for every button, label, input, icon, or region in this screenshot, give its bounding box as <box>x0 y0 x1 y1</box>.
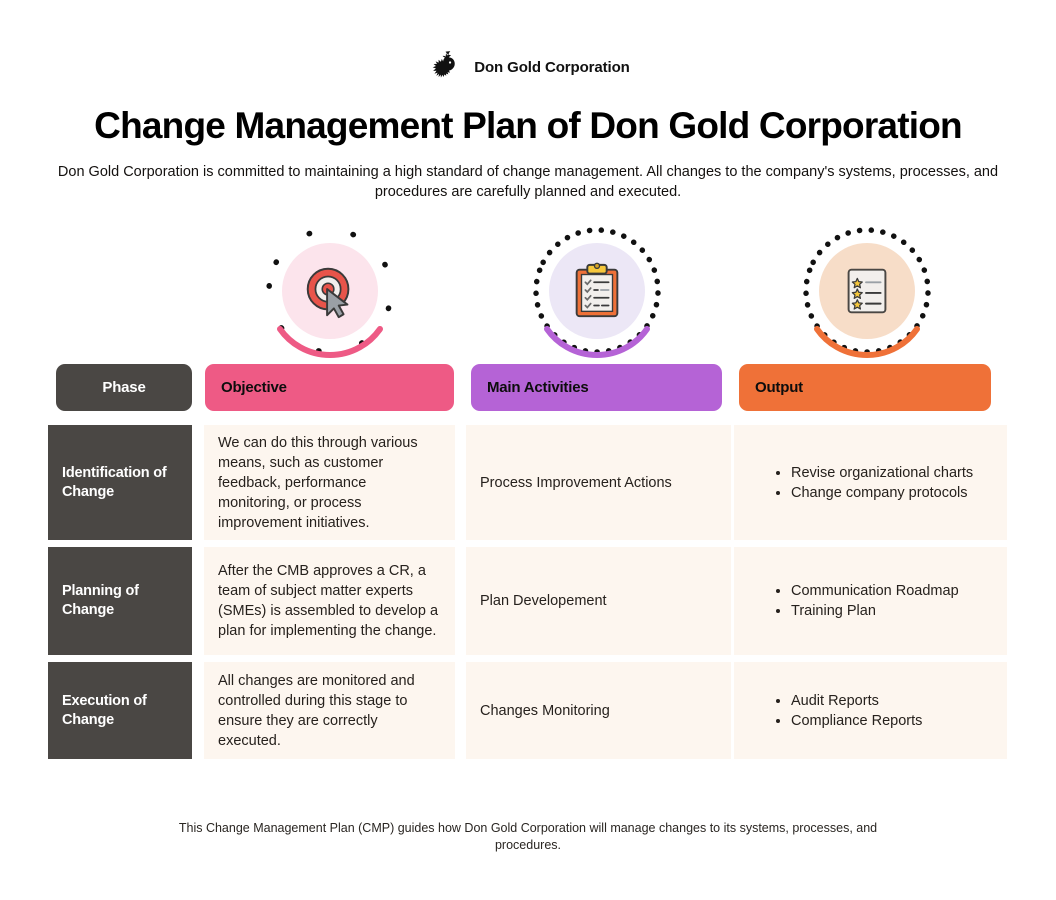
page-subtitle: Don Gold Corporation is committed to mai… <box>53 162 1003 202</box>
output-list: Communication Roadmap Training Plan <box>774 581 959 621</box>
cell-output: Communication Roadmap Training Plan <box>734 547 1007 655</box>
clipboard-checklist-icon <box>549 243 645 339</box>
brand-name: Don Gold Corporation <box>474 59 629 76</box>
output-list: Revise organizational charts Change comp… <box>774 463 973 503</box>
starred-document-icon <box>819 243 915 339</box>
brand-header: Don Gold Corporation <box>0 48 1056 86</box>
horse-head-logo-icon <box>426 48 464 86</box>
column-header-activities[interactable]: Main Activities <box>471 364 722 411</box>
cell-objective: All changes are monitored and controlled… <box>204 662 455 759</box>
icon-unit-objective <box>255 216 405 366</box>
list-item: Communication Roadmap <box>774 581 959 601</box>
cell-activities: Process Improvement Actions <box>466 425 731 540</box>
column-header-row: Phase Objective Main Activities Output <box>0 364 1056 411</box>
cell-objective-text: After the CMB approves a CR, a team of s… <box>218 561 441 641</box>
cell-activities-text: Plan Developement <box>480 591 607 611</box>
list-item: Change company protocols <box>774 483 973 503</box>
cell-objective: We can do this through various means, su… <box>204 425 455 540</box>
cell-activities-text: Process Improvement Actions <box>480 473 672 493</box>
list-item: Audit Reports <box>774 691 922 711</box>
column-header-objective[interactable]: Objective <box>205 364 454 411</box>
icon-row <box>0 216 1056 366</box>
column-header-output[interactable]: Output <box>739 364 991 411</box>
footer-note: This Change Management Plan (CMP) guides… <box>178 820 878 854</box>
column-header-phase[interactable]: Phase <box>56 364 192 411</box>
cell-objective: After the CMB approves a CR, a team of s… <box>204 547 455 655</box>
cell-output: Revise organizational charts Change comp… <box>734 425 1007 540</box>
cell-phase: Identification of Change <box>48 425 192 540</box>
output-list: Audit Reports Compliance Reports <box>774 691 922 731</box>
icon-unit-output <box>792 216 942 366</box>
infographic-page: Don Gold Corporation Change Management P… <box>0 0 1056 900</box>
list-item: Revise organizational charts <box>774 463 973 483</box>
list-item: Compliance Reports <box>774 711 922 731</box>
cell-activities-text: Changes Monitoring <box>480 701 610 721</box>
list-item: Training Plan <box>774 601 959 621</box>
cell-objective-text: We can do this through various means, su… <box>218 433 441 533</box>
cell-output: Audit Reports Compliance Reports <box>734 662 1007 759</box>
target-cursor-icon <box>282 243 378 339</box>
table-row: Execution of Change All changes are moni… <box>0 662 1056 759</box>
cell-activities: Changes Monitoring <box>466 662 731 759</box>
table-row: Identification of Change We can do this … <box>0 425 1056 540</box>
cell-phase: Execution of Change <box>48 662 192 759</box>
icon-unit-activities <box>522 216 672 366</box>
plan-table: Identification of Change We can do this … <box>0 425 1056 759</box>
cell-phase: Planning of Change <box>48 547 192 655</box>
cell-activities: Plan Developement <box>466 547 731 655</box>
cell-objective-text: All changes are monitored and controlled… <box>218 671 441 751</box>
table-row: Planning of Change After the CMB approve… <box>0 547 1056 655</box>
page-title: Change Management Plan of Don Gold Corpo… <box>0 105 1056 147</box>
